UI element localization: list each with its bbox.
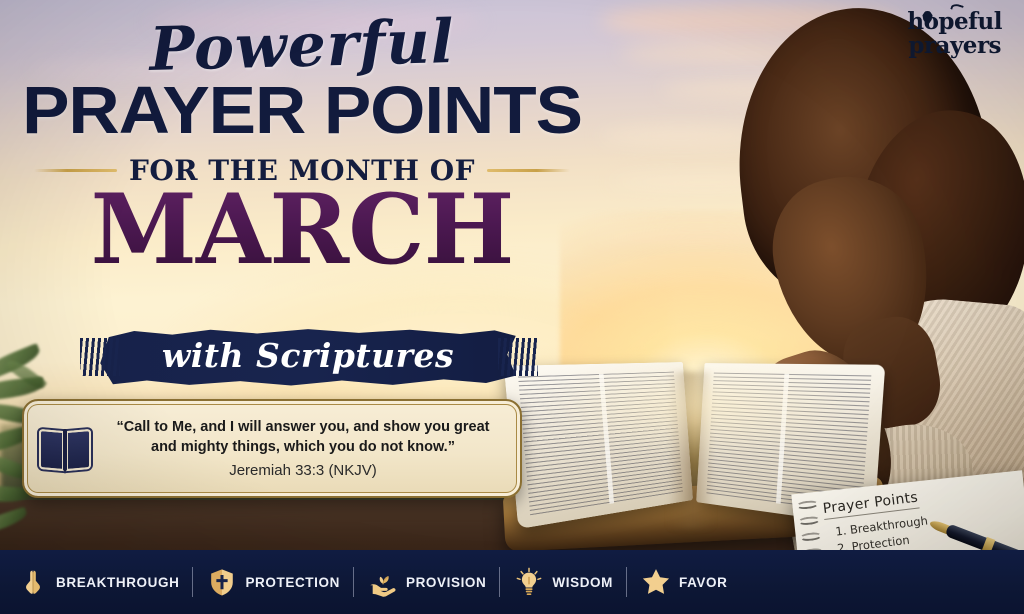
scripture-reference: Jeremiah 33:3 (NKJV) xyxy=(104,462,502,479)
bar-item-protection[interactable]: PROTECTION xyxy=(193,567,354,597)
brush-banner: with Scriptures xyxy=(96,326,520,388)
poster-canvas: Prayer Points 1. Breakthrough 2. Protect… xyxy=(0,0,1024,614)
hand-sprout-icon xyxy=(368,567,398,597)
praying-hands-icon xyxy=(18,567,48,597)
scripture-quote-line-1: “Call to Me, and I will answer you, and … xyxy=(104,418,502,438)
bar-label: PROTECTION xyxy=(245,575,340,590)
title-script: Powerful xyxy=(0,10,605,83)
logo-line-1: hopeful xyxy=(907,10,1002,33)
logo-line-2: prayers xyxy=(907,34,1002,57)
headline-block: Powerful PRAYER POINTS FOR THE MONTH OF … xyxy=(0,18,604,275)
star-icon xyxy=(641,567,671,597)
page-title: PRAYER POINTS xyxy=(0,77,622,144)
keywords-bar: BREAKTHROUGH PROTECTION xyxy=(0,550,1024,614)
bar-label: BREAKTHROUGH xyxy=(56,575,179,590)
bar-label: WISDOM xyxy=(552,575,613,590)
bar-label: FAVOR xyxy=(679,575,728,590)
open-book-icon xyxy=(38,426,92,472)
bar-label: PROVISION xyxy=(406,575,486,590)
brand-logo[interactable]: hopeful prayers xyxy=(907,10,1002,57)
logo-text-hopeful: hopeful xyxy=(907,8,1002,35)
lightbulb-icon xyxy=(514,567,544,597)
bible-glow xyxy=(540,350,860,460)
scripture-quote-line-2: and mighty things, which you do not know… xyxy=(104,438,502,458)
shield-cross-icon xyxy=(207,567,237,597)
bar-item-wisdom[interactable]: WISDOM xyxy=(500,567,627,597)
scripture-card: “Call to Me, and I will answer you, and … xyxy=(22,399,522,498)
title-month: MARCH xyxy=(0,185,604,275)
bar-item-favor[interactable]: FAVOR xyxy=(627,567,742,597)
scripture-text-block: “Call to Me, and I will answer you, and … xyxy=(104,418,502,479)
gold-rule-right xyxy=(487,169,570,172)
banner-label: with Scriptures xyxy=(96,326,520,388)
bar-item-provision[interactable]: PROVISION xyxy=(354,567,500,597)
gold-rule-left xyxy=(34,169,117,172)
bar-item-breakthrough[interactable]: BREAKTHROUGH xyxy=(4,567,193,597)
